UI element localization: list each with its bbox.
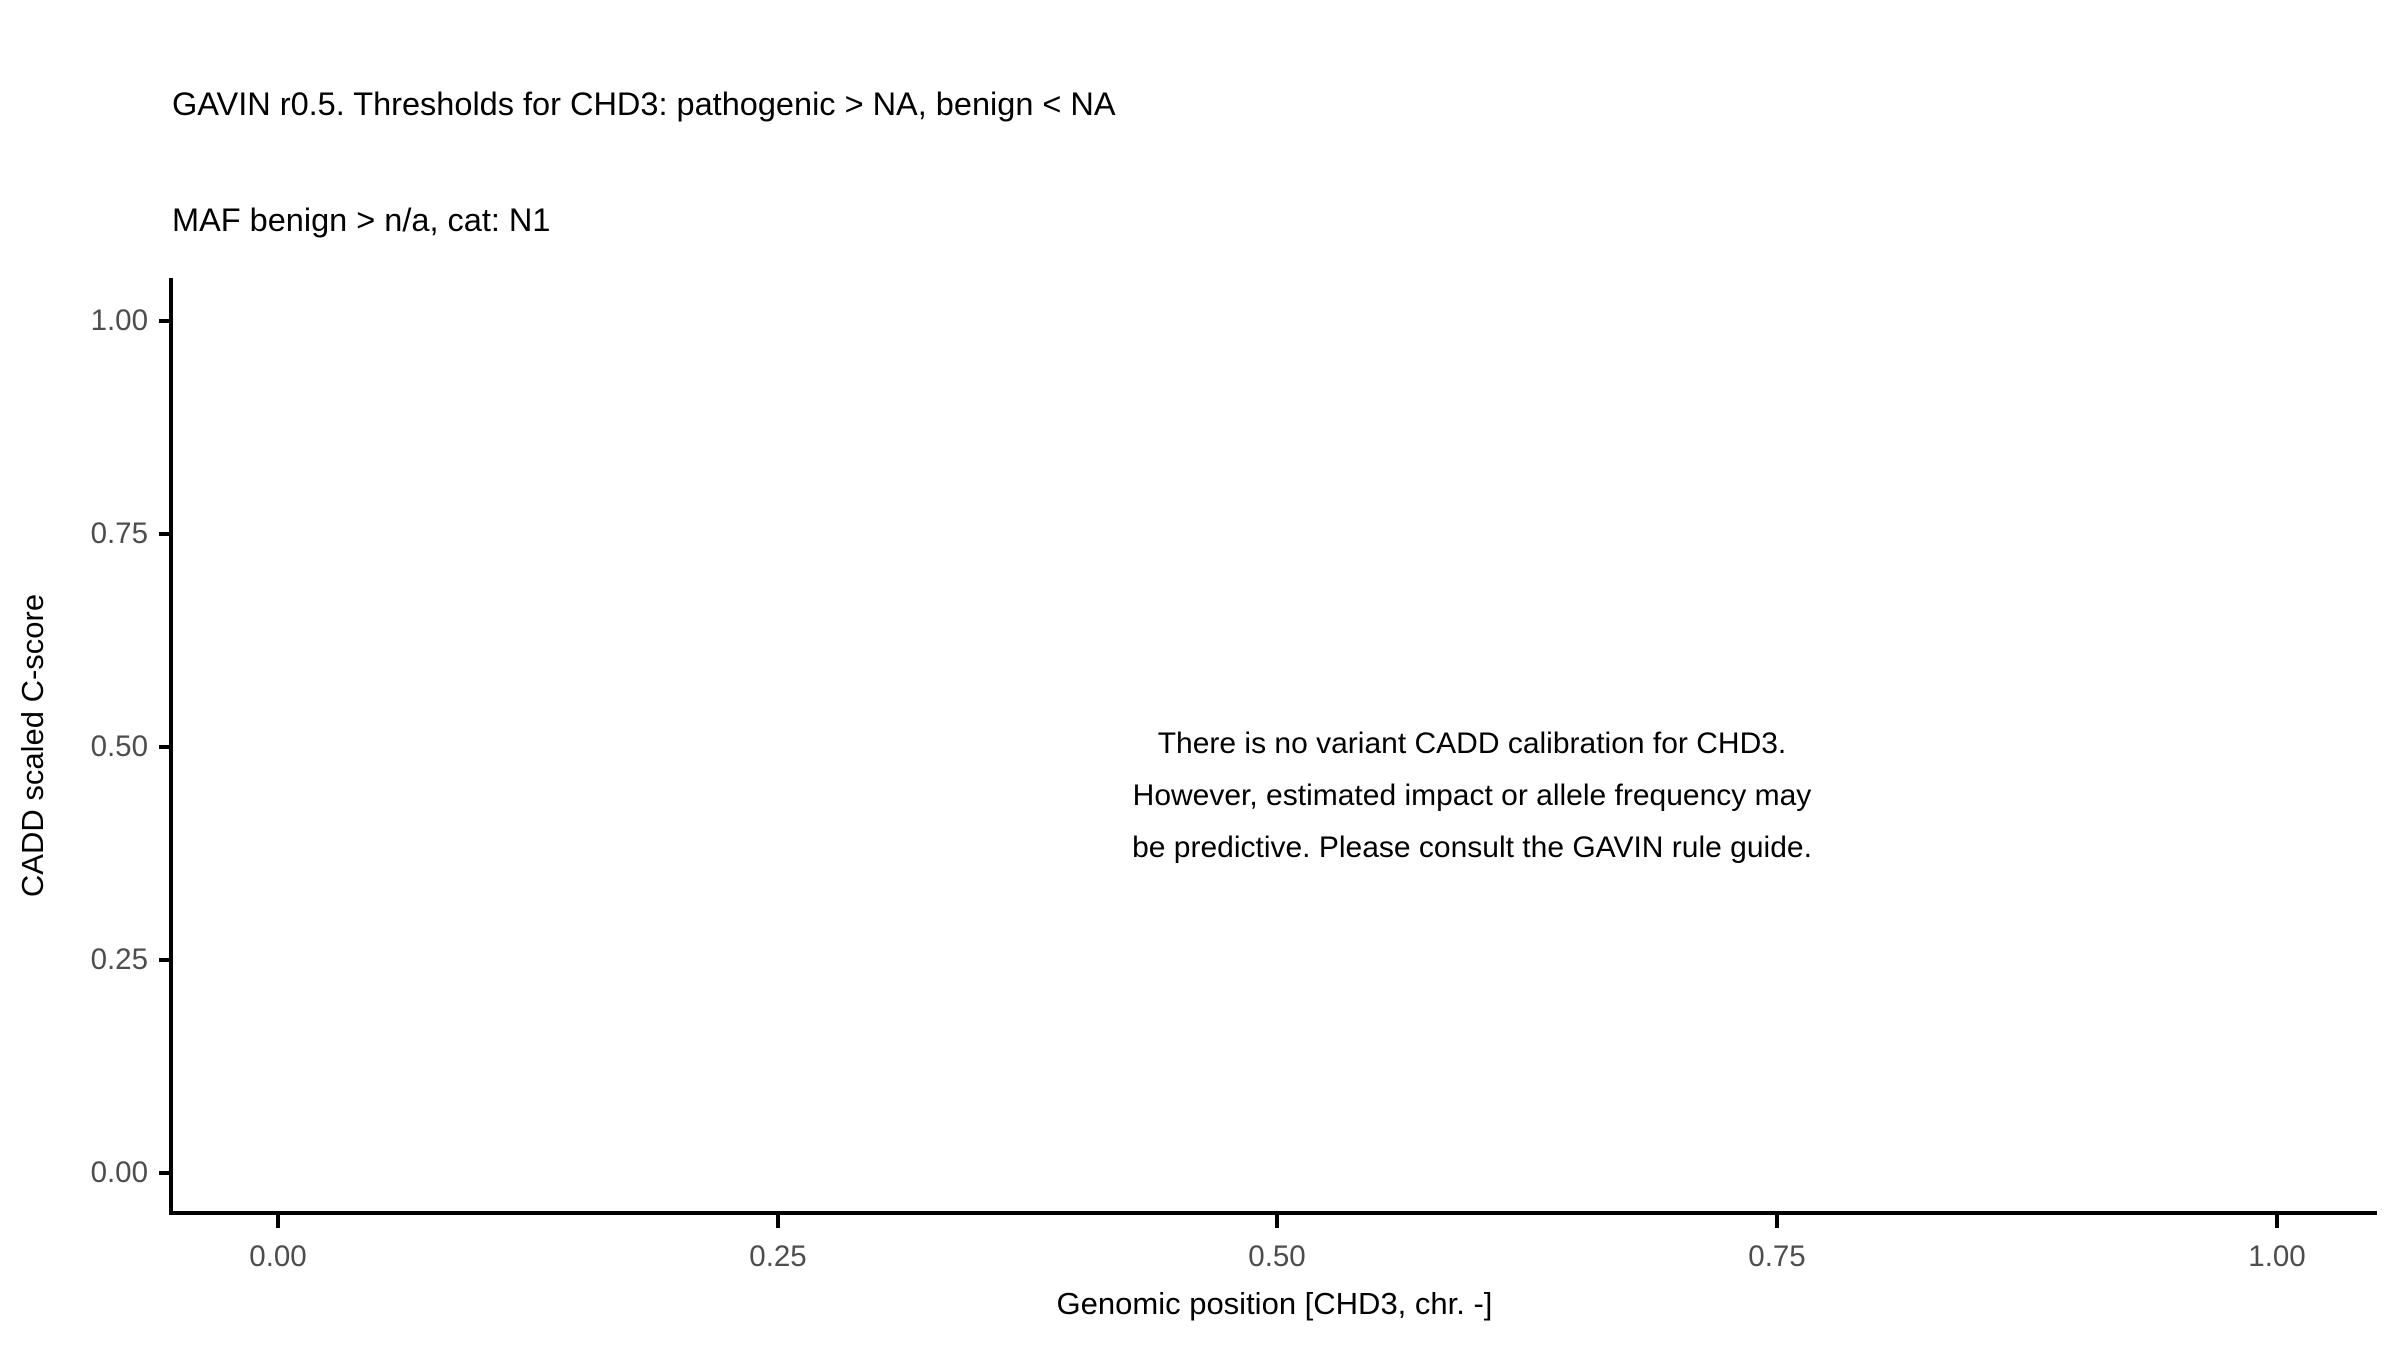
annotation-line-1: There is no variant CADD calibration for… <box>792 718 2152 770</box>
y-tick-label-1.00: 1.00 <box>91 300 148 342</box>
y-tick-label-0.25: 0.25 <box>91 939 148 981</box>
x-axis-title: Genomic position [CHD3, chr. -] <box>172 1281 2377 1327</box>
y-tick-mark-0.50 <box>159 745 172 749</box>
annotation-line-2: However, estimated impact or allele freq… <box>792 770 2152 822</box>
y-tick-label-0.00: 0.00 <box>91 1152 148 1194</box>
y-tick-mark-0.75 <box>159 532 172 536</box>
plot-panel: There is no variant CADD calibration for… <box>172 278 2377 1213</box>
plot-title-line-2: MAF benign > n/a, cat: N1 <box>172 201 2352 240</box>
y-tick-mark-0.25 <box>159 958 172 962</box>
x-tick-label-0.50: 0.50 <box>1177 1236 1377 1278</box>
annotation-line-3: be predictive. Please consult the GAVIN … <box>792 822 2152 874</box>
x-tick-label-1.00: 1.00 <box>2177 1236 2377 1278</box>
no-calibration-annotation: There is no variant CADD calibration for… <box>792 718 2152 874</box>
x-tick-mark-1.00 <box>2275 1215 2279 1228</box>
x-tick-label-0.00: 0.00 <box>178 1236 378 1278</box>
y-tick-label-0.75: 0.75 <box>91 513 148 555</box>
x-tick-mark-0.25 <box>776 1215 780 1228</box>
y-tick-mark-1.00 <box>159 319 172 323</box>
y-tick-mark-0.00 <box>159 1171 172 1175</box>
x-tick-mark-0.75 <box>1775 1215 1779 1228</box>
y-tick-label-0.50: 0.50 <box>91 726 148 768</box>
x-axis-line <box>169 1211 2377 1215</box>
y-axis-title: CADD scaled C-score <box>10 278 56 1213</box>
x-tick-label-0.75: 0.75 <box>1677 1236 1877 1278</box>
figure-canvas: GAVIN r0.5. Thresholds for CHD3: pathoge… <box>0 0 2400 1350</box>
x-tick-mark-0.00 <box>276 1215 280 1228</box>
x-tick-label-0.25: 0.25 <box>678 1236 878 1278</box>
x-tick-mark-0.50 <box>1275 1215 1279 1228</box>
plot-title-line-1: GAVIN r0.5. Thresholds for CHD3: pathoge… <box>172 85 2352 124</box>
